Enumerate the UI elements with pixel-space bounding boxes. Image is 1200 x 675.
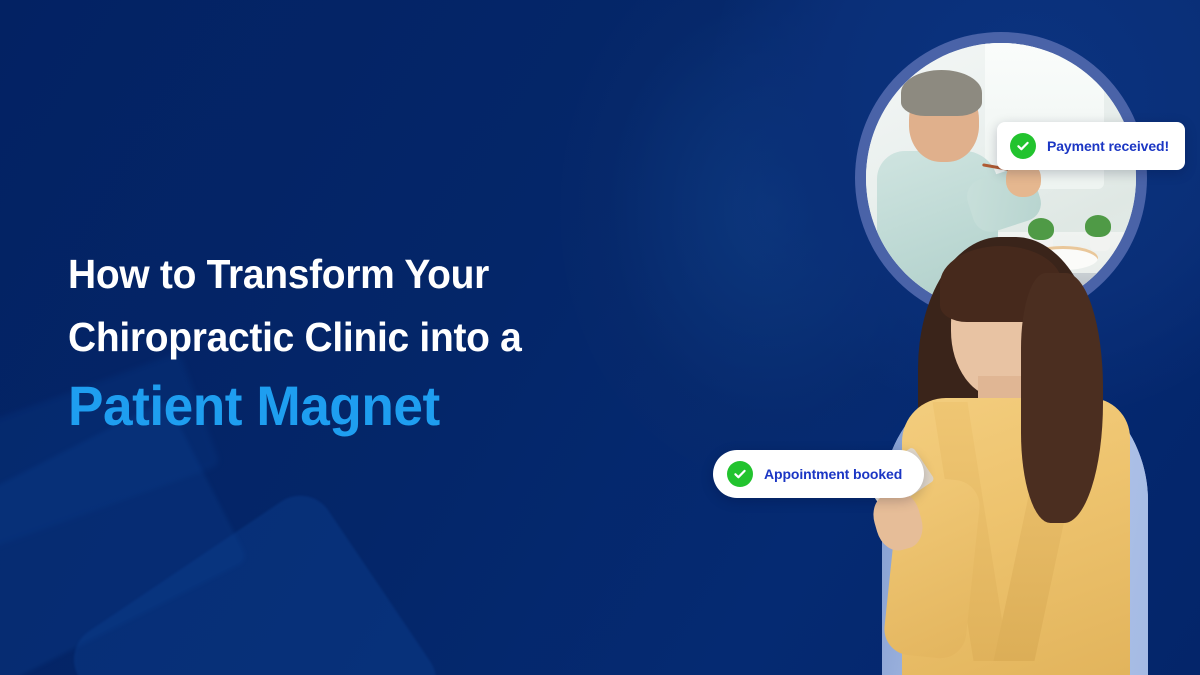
- headline-line-3-accent: Patient Magnet: [68, 369, 600, 443]
- photo-man-hair: [901, 70, 982, 116]
- promo-banner: How to Transform Your Chiropractic Clini…: [0, 0, 1200, 675]
- portrait-photo: [880, 228, 1152, 675]
- status-badge-label: Payment received!: [1047, 138, 1169, 154]
- status-badge-appointment-booked: Appointment booked: [713, 450, 924, 498]
- status-badge-label: Appointment booked: [764, 466, 902, 482]
- status-badge-payment-received: Payment received!: [997, 122, 1185, 170]
- check-circle-icon: [1010, 133, 1036, 159]
- portrait-hair-side: [1021, 273, 1103, 523]
- check-circle-icon: [727, 461, 753, 487]
- watermark-card-shape: [61, 482, 450, 675]
- headline-line-2: Chiropractic Clinic into a: [68, 306, 600, 369]
- headline: How to Transform Your Chiropractic Clini…: [68, 243, 628, 443]
- headline-line-1: How to Transform Your: [68, 243, 600, 306]
